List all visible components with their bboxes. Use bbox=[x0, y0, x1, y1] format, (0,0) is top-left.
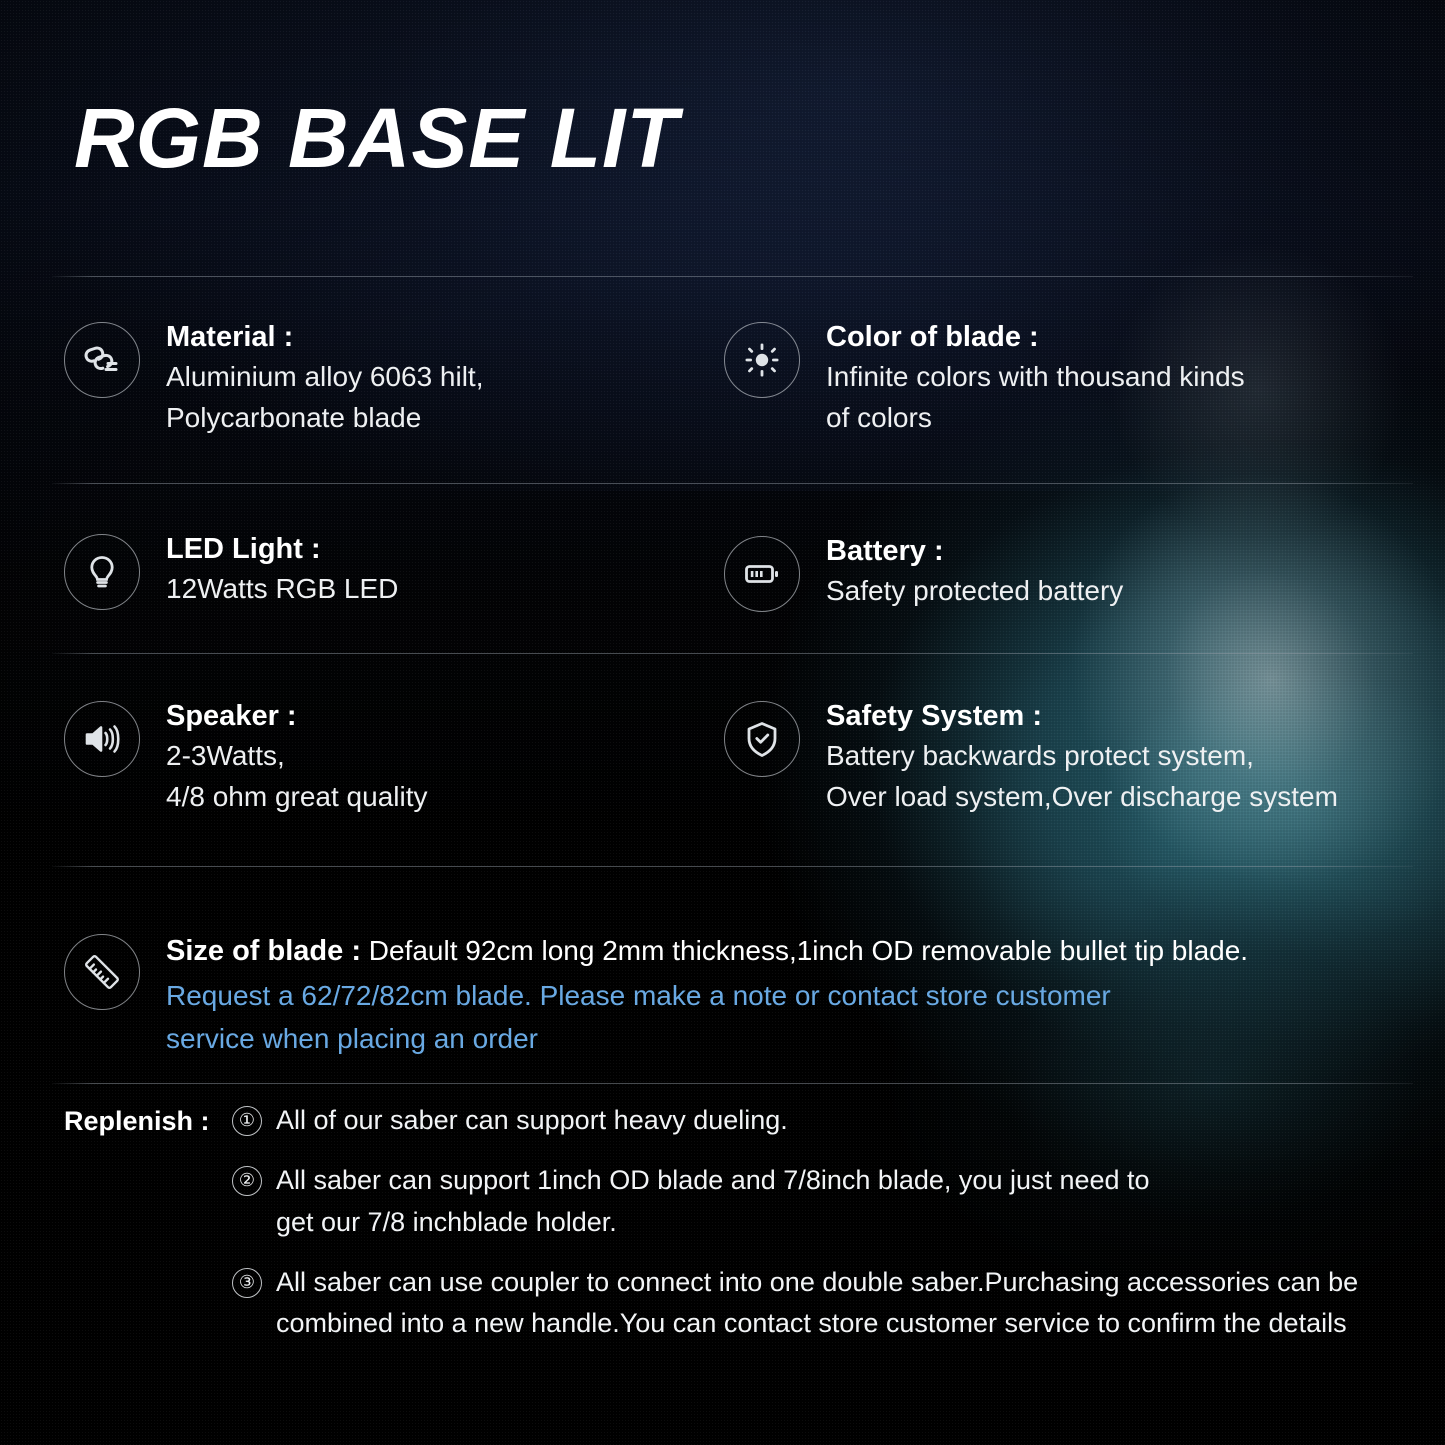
product-spec-infographic: RGB BASE LIT Material : Aluminium alloy … bbox=[0, 0, 1445, 1445]
spec-label: Material : bbox=[166, 318, 484, 357]
list-item-number: ② bbox=[232, 1166, 262, 1196]
page-title: RGB BASE LIT bbox=[74, 96, 679, 180]
spec-row-safety-system: Safety System : Battery backwards protec… bbox=[724, 697, 1338, 817]
spec-value: Infinite colors with thousand kinds of c… bbox=[826, 357, 1245, 438]
spec-value: 2-3Watts, 4/8 ohm great quality bbox=[166, 736, 428, 817]
list-item-number: ③ bbox=[232, 1268, 262, 1298]
spec-label: LED Light : bbox=[166, 530, 398, 569]
divider-4 bbox=[52, 866, 1413, 867]
list-item-number: ① bbox=[232, 1106, 262, 1136]
shield-check-icon bbox=[724, 701, 800, 777]
spec-value: Aluminium alloy 6063 hilt, Polycarbonate… bbox=[166, 357, 484, 438]
divider-1 bbox=[52, 276, 1413, 277]
size-of-blade-value: Default 92cm long 2mm thickness,1inch OD… bbox=[369, 935, 1248, 966]
link-chain-icon bbox=[64, 322, 140, 398]
speaker-volume-icon bbox=[64, 701, 140, 777]
spec-row-led-light: LED Light : 12Watts RGB LED bbox=[64, 530, 398, 610]
list-item-text: All saber can support 1inch OD blade and… bbox=[276, 1160, 1150, 1244]
divider-2 bbox=[52, 483, 1413, 484]
spec-row-battery: Battery : Safety protected battery bbox=[724, 532, 1123, 612]
divider-5 bbox=[52, 1083, 1413, 1084]
divider-3 bbox=[52, 653, 1413, 654]
brightness-sun-icon bbox=[724, 322, 800, 398]
list-item: ② All saber can support 1inch OD blade a… bbox=[232, 1160, 1424, 1244]
replenish-list: ① All of our saber can support heavy due… bbox=[232, 1100, 1424, 1345]
list-item: ① All of our saber can support heavy due… bbox=[232, 1100, 1424, 1142]
spec-label: Safety System : bbox=[826, 697, 1338, 736]
size-of-blade-note: Request a 62/72/82cm blade. Please make … bbox=[166, 974, 1248, 1061]
list-item-text: All of our saber can support heavy dueli… bbox=[276, 1100, 788, 1142]
content-layer: RGB BASE LIT Material : Aluminium alloy … bbox=[0, 0, 1445, 1445]
replenish-section: Replenish : ① All of our saber can suppo… bbox=[64, 1100, 1424, 1363]
spec-value: 12Watts RGB LED bbox=[166, 569, 398, 610]
spec-value: Safety protected battery bbox=[826, 571, 1123, 612]
spec-row-speaker: Speaker : 2-3Watts, 4/8 ohm great qualit… bbox=[64, 697, 428, 817]
spec-label: Color of blade : bbox=[826, 318, 1245, 357]
battery-icon bbox=[724, 536, 800, 612]
replenish-label: Replenish : bbox=[64, 1106, 210, 1137]
spec-row-color-of-blade: Color of blade : Infinite colors with th… bbox=[724, 318, 1245, 438]
ruler-icon bbox=[64, 934, 140, 1010]
spec-row-size-of-blade: Size of blade : Default 92cm long 2mm th… bbox=[64, 930, 1248, 1060]
spec-label: Battery : bbox=[826, 532, 1123, 571]
size-of-blade-label: Size of blade : bbox=[166, 935, 361, 967]
size-of-blade-line: Size of blade : Default 92cm long 2mm th… bbox=[166, 930, 1248, 974]
spec-value: Battery backwards protect system, Over l… bbox=[826, 736, 1338, 817]
spec-row-material: Material : Aluminium alloy 6063 hilt, Po… bbox=[64, 318, 484, 438]
spec-label: Speaker : bbox=[166, 697, 428, 736]
list-item: ③ All saber can use coupler to connect i… bbox=[232, 1262, 1424, 1346]
list-item-text: All saber can use coupler to connect int… bbox=[276, 1262, 1358, 1346]
lightbulb-icon bbox=[64, 534, 140, 610]
